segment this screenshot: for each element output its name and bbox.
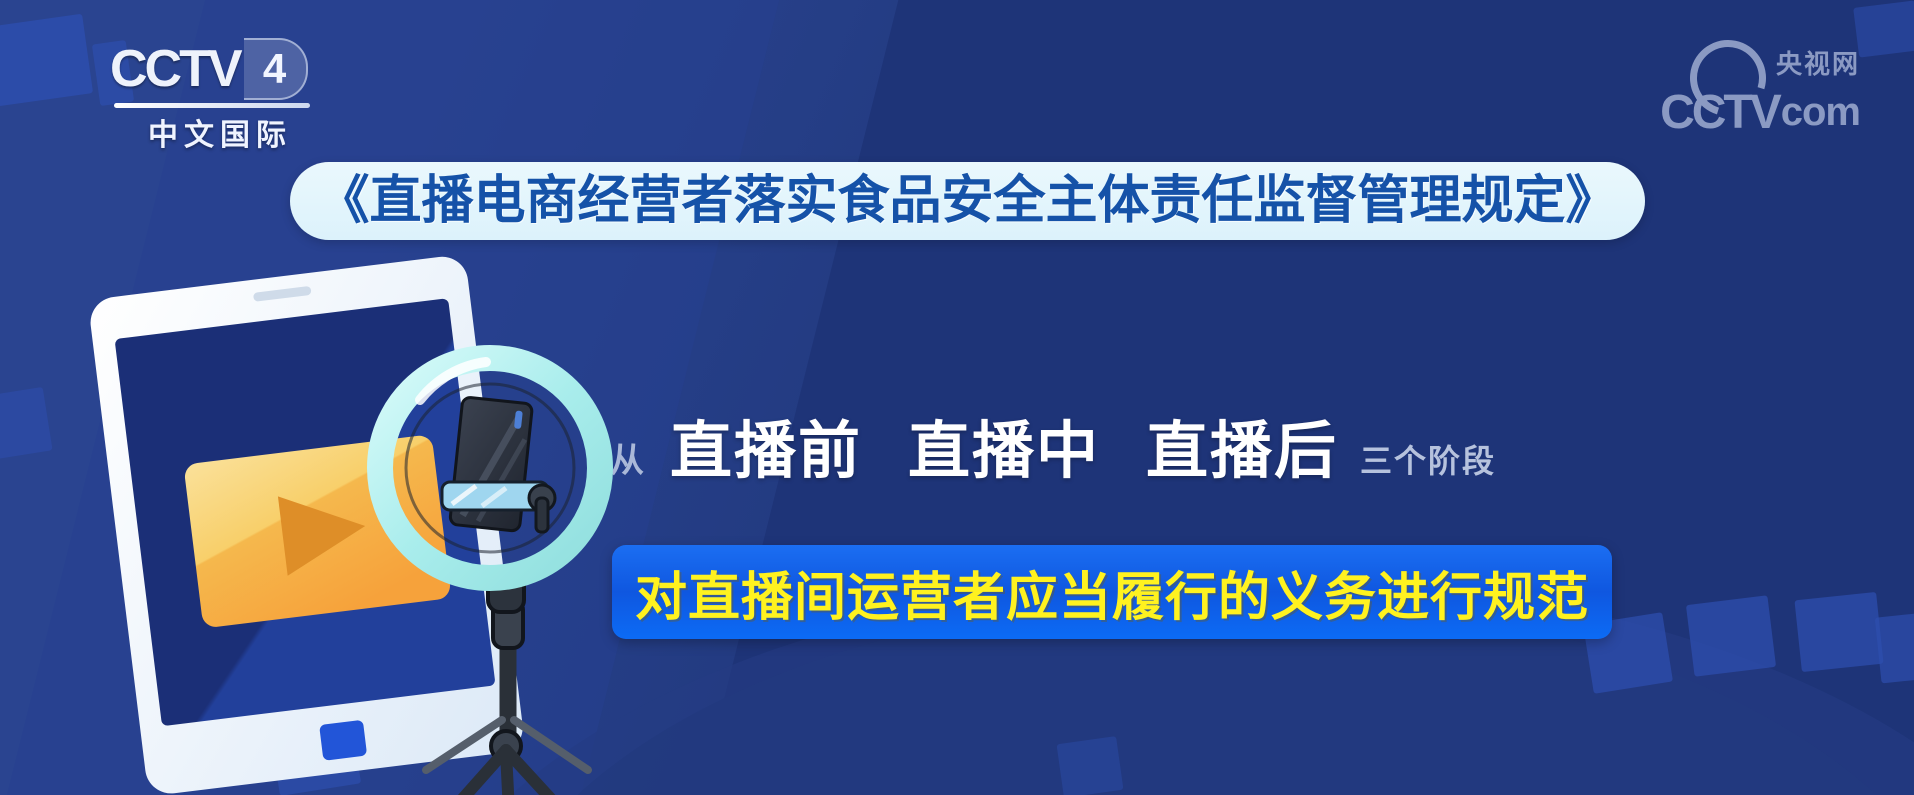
decor-square (1794, 592, 1883, 672)
watermark-cn-label: 央视网 (1776, 44, 1860, 81)
channel-logo-underline (114, 103, 310, 108)
channel-number: 4 (244, 38, 308, 100)
headline-banner: 《直播电商经营者落实食品安全主体责任监督管理规定》 (290, 162, 1645, 240)
channel-logo: CCTV 4 中文国际 (110, 38, 370, 143)
decor-square (1853, 0, 1914, 57)
broadcast-graphic: CCTV 4 中文国际 央视网 CCTV com 《直播电商经营者落实食品安全主… (0, 0, 1914, 795)
decor-square (1686, 595, 1776, 676)
headline-title: 《直播电商经营者落实食品安全主体责任监督管理规定》 (317, 175, 1617, 227)
phase-item-after: 直播后 (1146, 400, 1338, 490)
channel-wordmark: CCTV (110, 39, 240, 99)
phase-item-before: 直播前 (670, 400, 862, 490)
callout-text: 对直播间运营者应当履行的义务进行规范 (635, 555, 1589, 630)
phase-line: 从 直播前 直播中 直播后 三个阶段 (610, 400, 1496, 490)
illustration-svg (90, 250, 650, 795)
decor-square (1875, 611, 1914, 684)
decor-square (1057, 736, 1124, 795)
cctv-com-watermark: 央视网 CCTV com (1660, 44, 1860, 140)
livestream-illustration (90, 250, 650, 795)
tablet-home-button (319, 720, 367, 761)
phase-suffix: 三个阶段 (1360, 436, 1496, 482)
phase-item-during: 直播中 (908, 400, 1100, 490)
channel-name: 中文国际 (116, 110, 324, 154)
watermark-com-label: com (1781, 90, 1860, 135)
callout-banner: 对直播间运营者应当履行的义务进行规范 (612, 545, 1612, 639)
decor-square (0, 14, 93, 107)
